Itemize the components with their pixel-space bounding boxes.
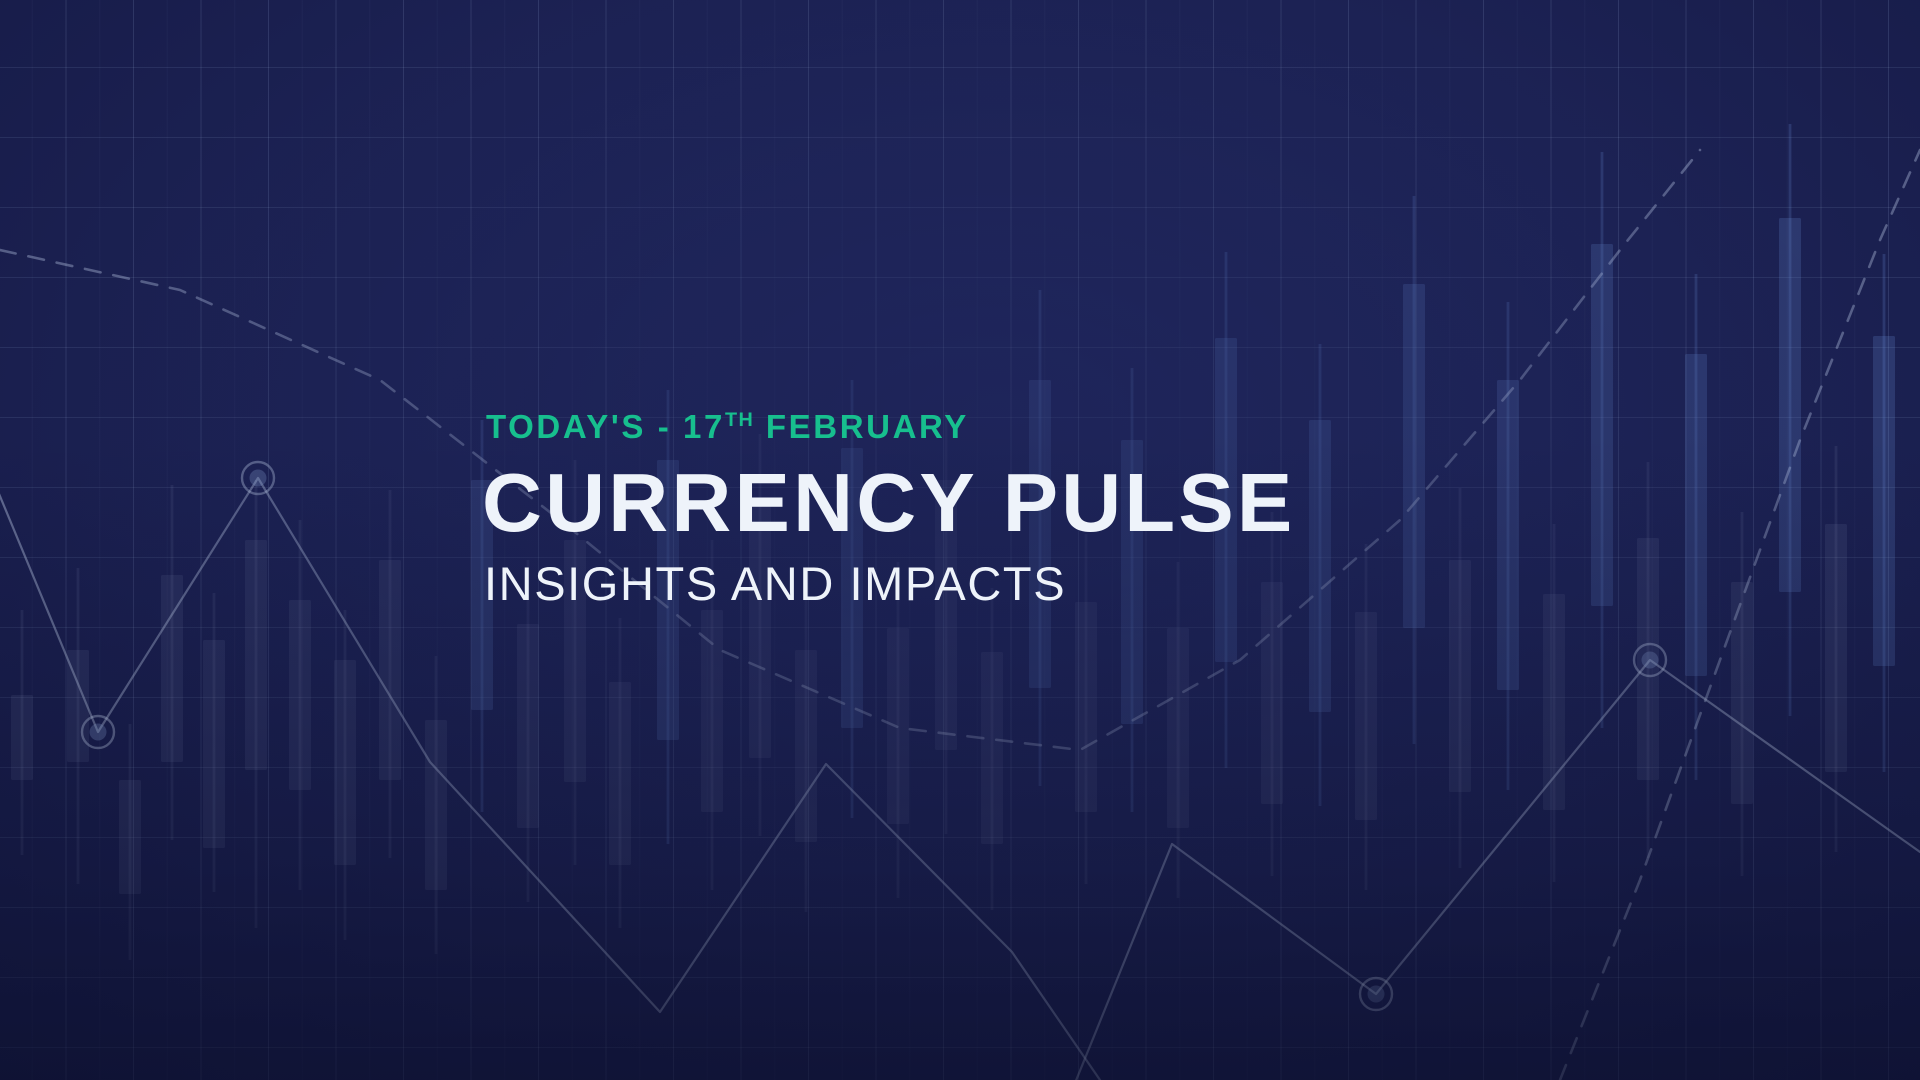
date-kicker-month: FEBRUARY <box>766 408 969 445</box>
headline-block: TODAY'S - 17TH FEBRUARY CURRENCY PULSE I… <box>482 410 1462 607</box>
line-marker-dot <box>250 470 267 487</box>
trend-line-dashed <box>1560 150 1920 1080</box>
trend-line-solid <box>1060 660 1920 1080</box>
line-marker-dot <box>1642 652 1659 669</box>
line-marker-dot <box>1368 986 1385 1003</box>
line-marker-dot <box>90 724 107 741</box>
date-kicker-prefix: TODAY'S - 17 <box>486 408 725 445</box>
date-kicker-ordinal: TH <box>725 409 754 431</box>
page-title: CURRENCY PULSE <box>482 461 1462 544</box>
date-kicker: TODAY'S - 17TH FEBRUARY <box>486 410 1462 443</box>
page-subtitle: INSIGHTS AND IMPACTS <box>484 560 1462 607</box>
currency-pulse-banner: TODAY'S - 17TH FEBRUARY CURRENCY PULSE I… <box>0 0 1920 1080</box>
